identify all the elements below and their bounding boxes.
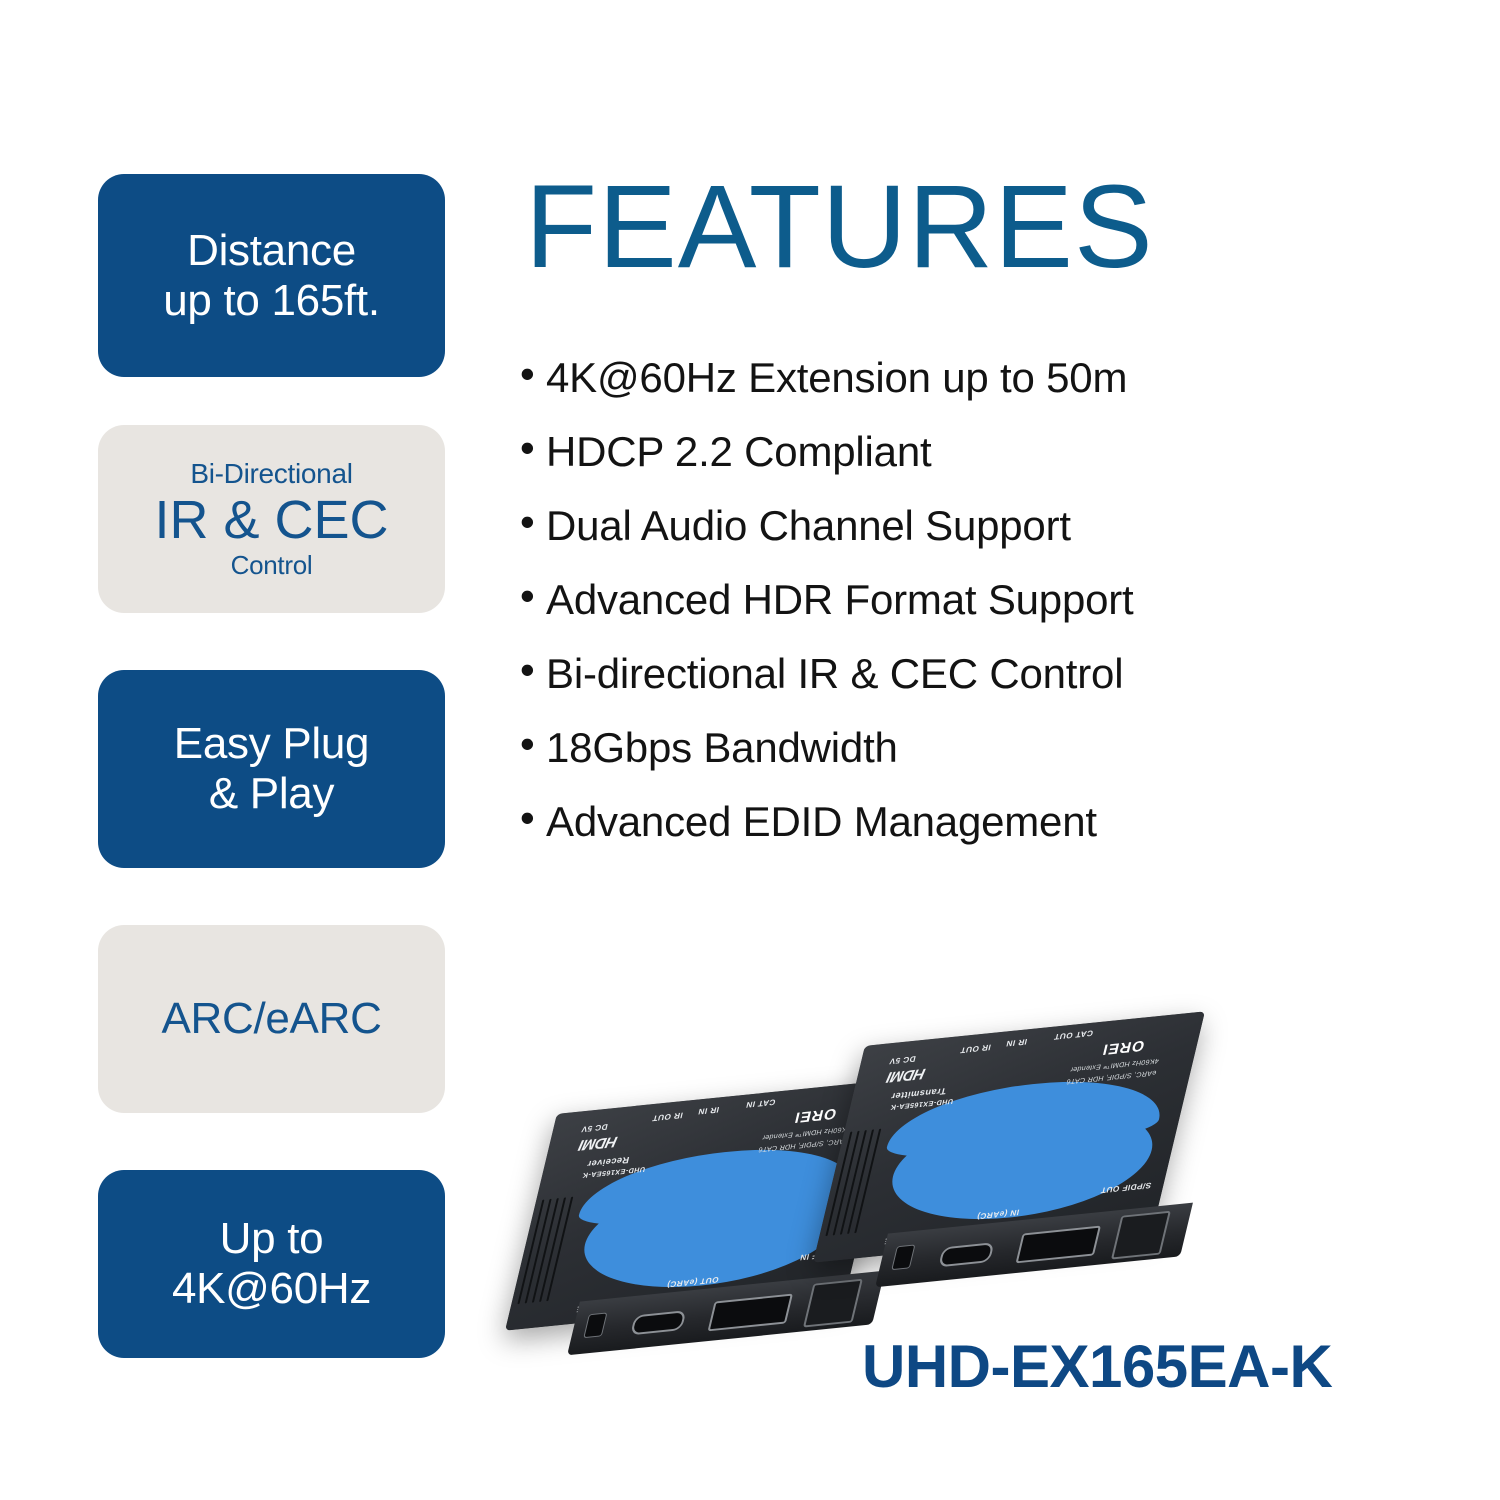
port-spdif-transmitter [1111,1211,1171,1260]
feature-item-label: Dual Audio Channel Support [546,500,1071,552]
device-transmitter: HDMI Transmitter UHD-EX165EA-K OREI 4K60… [838,1022,1238,1272]
badge-distance-line-2: up to 165ft. [163,276,380,326]
feature-item-label: 4K@60Hz Extension up to 50m [546,352,1127,404]
badge-plug-play: Easy Plug & Play [98,670,445,868]
bullet-icon: • [520,574,546,619]
product-model-number: UHD-EX165EA-K [862,1332,1332,1401]
port-spdif-receiver [803,1279,863,1328]
port-usb-c-receiver [630,1310,686,1335]
feature-item-label: 18Gbps Bandwidth [546,722,898,774]
port-dc-receiver [583,1312,607,1338]
badge-arc-earc: ARC/eARC [98,925,445,1113]
port-usb-c-transmitter [938,1242,994,1267]
badge-ir-cec-line-1: Bi-Directional [190,458,352,490]
port-dc-transmitter [891,1244,915,1270]
bullet-icon: • [520,352,546,397]
badge-plug-play-line-2: & Play [209,769,334,819]
badge-ir-cec-line-3: Control [231,551,313,580]
feature-item: • Advanced HDR Format Support [520,574,1450,626]
infographic-page: Distance up to 165ft. Bi-Directional IR … [0,0,1500,1500]
badge-distance-line-1: Distance [187,226,356,276]
feature-item-label: HDCP 2.2 Compliant [546,426,931,478]
feature-item-label: Advanced EDID Management [546,796,1097,848]
features-list: • 4K@60Hz Extension up to 50m • HDCP 2.2… [520,352,1450,871]
badge-arc-earc-line-1: ARC/eARC [161,994,381,1044]
badge-plug-play-line-1: Easy Plug [174,719,369,769]
badge-resolution-line-1: Up to [220,1214,324,1264]
features-title: FEATURES [525,168,1154,286]
feature-item-label: Advanced HDR Format Support [546,574,1134,626]
port-hdmi-transmitter [1016,1226,1101,1264]
feature-item: • Bi-directional IR & CEC Control [520,648,1450,700]
bullet-icon: • [520,426,546,471]
feature-item: • HDCP 2.2 Compliant [520,426,1450,478]
badge-resolution: Up to 4K@60Hz [98,1170,445,1358]
product-photo: HDMI Receiver UHD-EX165EA-K OREI 4K60Hz … [520,1010,1480,1340]
badge-resolution-line-2: 4K@60Hz [172,1264,371,1314]
bullet-icon: • [520,796,546,841]
bullet-icon: • [520,500,546,545]
port-hdmi-receiver [708,1294,793,1332]
badge-ir-cec: Bi-Directional IR & CEC Control [98,425,445,613]
badge-distance: Distance up to 165ft. [98,174,445,377]
feature-item-label: Bi-directional IR & CEC Control [546,648,1123,700]
feature-item: • Advanced EDID Management [520,796,1450,848]
feature-item: • Dual Audio Channel Support [520,500,1450,552]
feature-item: • 4K@60Hz Extension up to 50m [520,352,1450,404]
badge-ir-cec-line-2: IR & CEC [154,490,388,551]
bullet-icon: • [520,722,546,767]
bullet-icon: • [520,648,546,693]
feature-item: • 18Gbps Bandwidth [520,722,1450,774]
